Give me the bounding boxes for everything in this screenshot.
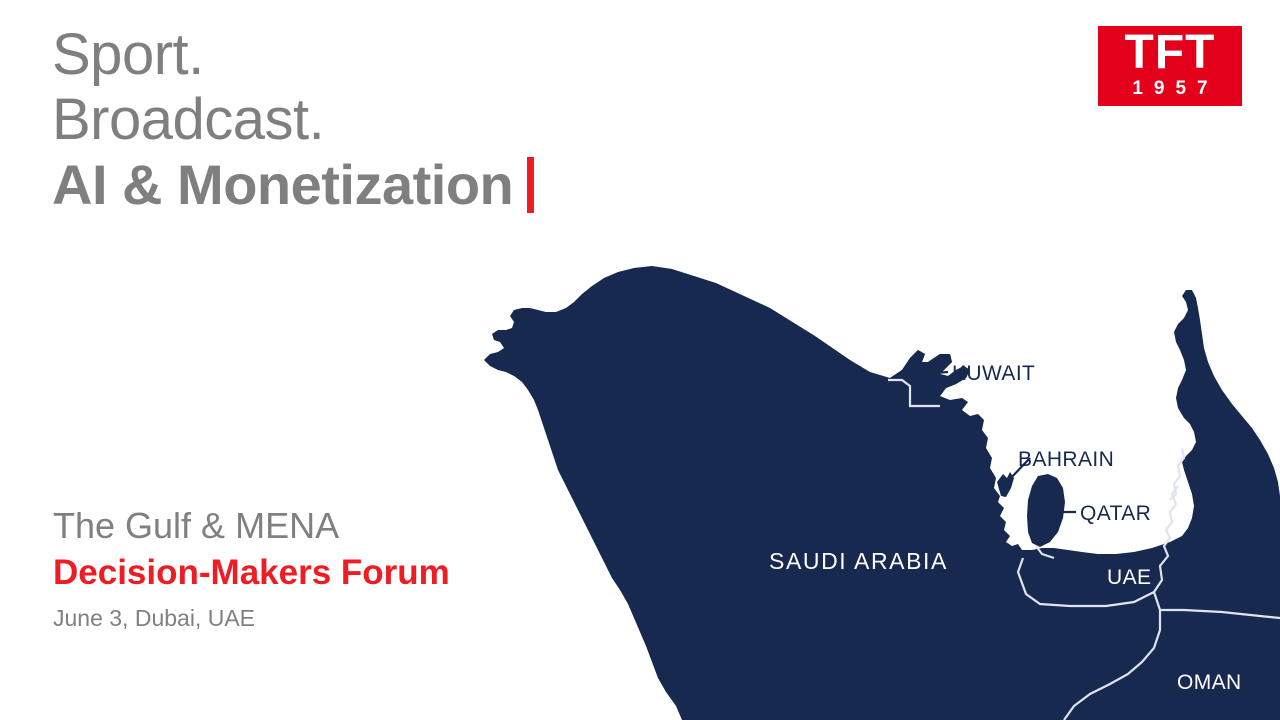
map-label-saudi-arabia: SAUDI ARABIA: [769, 548, 948, 574]
presentation-slide: Sport. Broadcast. AI & Monetization The …: [0, 0, 1280, 720]
title-line-broadcast: Broadcast.: [52, 87, 692, 152]
tft-logo: TFT 1957: [1098, 26, 1242, 106]
red-cursor-bar-icon: [527, 157, 534, 213]
title-line-sport: Sport.: [52, 22, 692, 87]
page-title: Sport. Broadcast. AI & Monetization: [52, 22, 692, 217]
map-bahrain-island: [997, 472, 1014, 497]
logo-wordmark: TFT: [1125, 28, 1216, 78]
logo-year-text: 1957: [1121, 78, 1218, 100]
map-label-bahrain: BAHRAIN: [1018, 448, 1114, 471]
map-label-oman: OMAN: [1177, 671, 1242, 694]
gulf-region-map: KUWAIT BAHRAIN QATAR SAUDI ARABIA UAE OM…: [470, 250, 1280, 720]
title-line-ai-monetization: AI & Monetization: [52, 152, 692, 217]
map-label-kuwait: KUWAIT: [952, 362, 1035, 385]
map-label-uae: UAE: [1107, 566, 1151, 589]
map-label-qatar: QATAR: [1080, 502, 1151, 525]
map-qatar-peninsula: [1027, 474, 1065, 547]
title-line-ai-monetization-text: AI & Monetization: [52, 153, 513, 216]
map-landmass: [484, 266, 1280, 720]
